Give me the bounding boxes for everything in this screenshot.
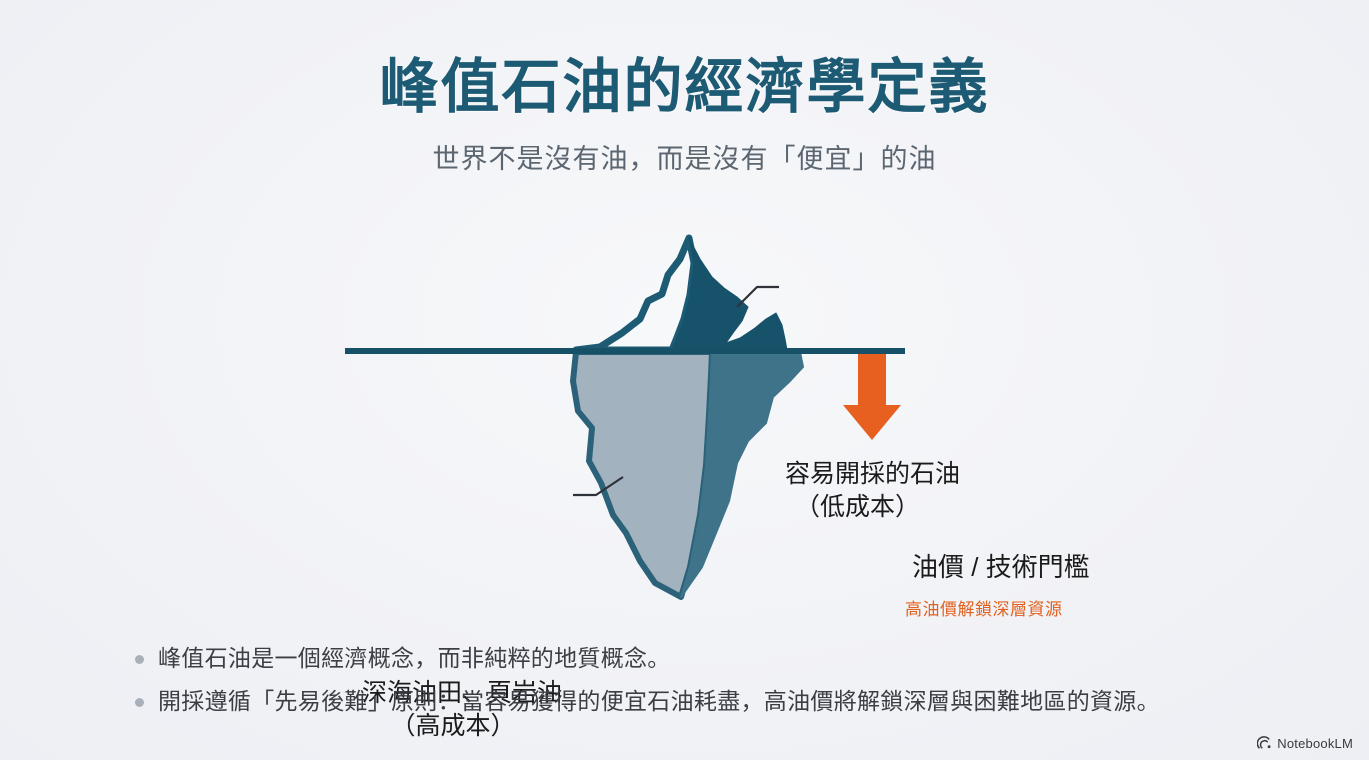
bullet-text: 開採遵循「先易後難」原則：當容易獲得的便宜石油耗盡，高油價將解鎖深層與困難地區的… (158, 686, 1160, 717)
page-subtitle: 世界不是沒有油，而是沒有「便宜」的油 (0, 137, 1369, 176)
bullet-list: 峰值石油是一個經濟概念，而非純粹的地質概念。 開採遵循「先易後難」原則：當容易獲… (135, 643, 1315, 729)
bullet-dot-icon (135, 655, 144, 664)
iceberg-tip-light-face (576, 238, 694, 350)
label-oil-price-threshold: 油價 / 技術門檻 (912, 550, 1090, 585)
notebooklm-logo-icon (1257, 736, 1272, 751)
watermark-label: NotebookLM (1277, 736, 1353, 751)
list-item: 峰值石油是一個經濟概念，而非純粹的地質概念。 (135, 643, 1315, 674)
iceberg-illustration (0, 215, 1369, 615)
page-title: 峰值石油的經濟學定義 (0, 56, 1369, 120)
slide-header: 峰值石油的經濟學定義 世界不是沒有油，而是沒有「便宜」的油 (0, 56, 1369, 176)
label-easy-oil: 容易開採的石油 （低成本） (785, 458, 960, 525)
slide-canvas: 峰值石油的經濟學定義 世界不是沒有油，而是沒有「便宜」的油 容易開採的石油 (0, 0, 1369, 760)
label-easy-oil-main: 容易開採的石油 (785, 460, 960, 488)
label-easy-oil-sub: （低成本） (785, 491, 960, 524)
bullet-dot-icon (135, 698, 144, 707)
list-item: 開採遵循「先易後難」原則：當容易獲得的便宜石油耗盡，高油價將解鎖深層與困難地區的… (135, 686, 1315, 717)
bullet-text: 峰值石油是一個經濟概念，而非純粹的地質概念。 (158, 643, 671, 674)
watermark: NotebookLM (1257, 736, 1353, 751)
iceberg-diagram: 容易開採的石油 （低成本） 深海油田、頁岩油 （高成本） 油價 / 技術門檻 高… (0, 215, 1369, 615)
down-arrow-icon (843, 354, 901, 440)
label-unlock-deep-resources: 高油價解鎖深層資源 (905, 599, 1063, 622)
